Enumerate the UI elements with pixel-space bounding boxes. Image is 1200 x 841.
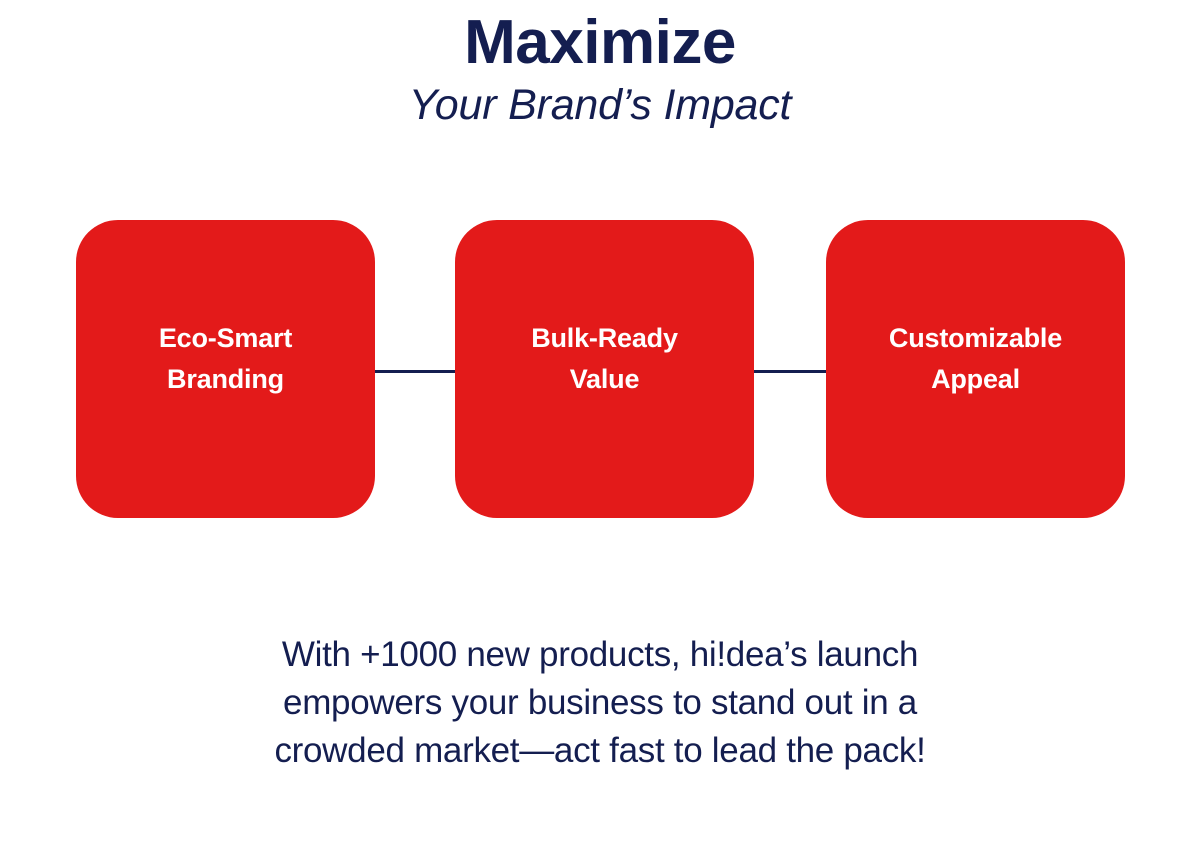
- page-subtitle: Your Brand’s Impact: [0, 78, 1200, 132]
- pillar-card-eco-smart-branding[interactable]: Eco-Smart Branding: [76, 220, 375, 518]
- page-title: Maximize: [0, 8, 1200, 78]
- pillar-card-bulk-ready-value[interactable]: Bulk-Ready Value: [455, 220, 754, 518]
- pillar-card-label: Eco-Smart Branding: [76, 318, 375, 400]
- pillar-card-label: Bulk-Ready Value: [455, 318, 754, 400]
- body-copy: With +1000 new products, hi!dea’s launch…: [100, 631, 1100, 775]
- pillar-card-label: Customizable Appeal: [826, 318, 1125, 400]
- connector-line-2: [746, 370, 826, 373]
- connector-line-1: [375, 370, 455, 373]
- promo-slide: Maximize Your Brand’s Impact Eco-Smart B…: [0, 0, 1200, 841]
- pillar-card-customizable-appeal[interactable]: Customizable Appeal: [826, 220, 1125, 518]
- heading-block: Maximize Your Brand’s Impact: [0, 8, 1200, 132]
- pillar-row: Eco-Smart Branding Bulk-Ready Value Cust…: [76, 220, 1124, 518]
